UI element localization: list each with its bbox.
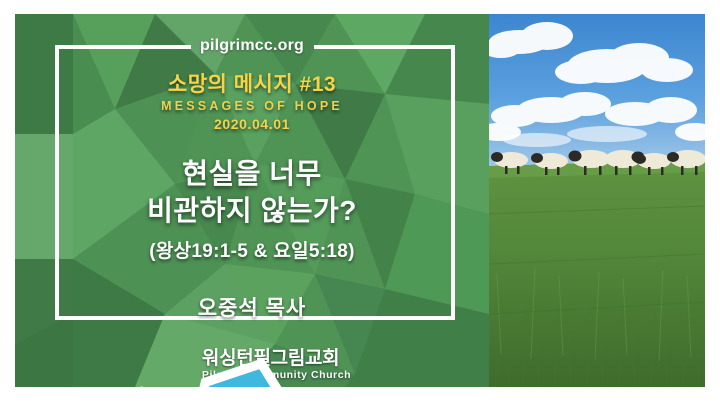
scripture-reference: (왕상19:1-5 & 요일5:18) [15, 236, 489, 263]
star-people-emblem-icon [153, 345, 195, 385]
sermon-title-block: 현실을 너무 비관하지 않는가? (왕상19:1-5 & 요일5:18) [15, 156, 489, 263]
green-lowpoly-panel: pilgrimcc.org 소망의 메시지 #13 MESSAGES OF HO… [15, 14, 489, 387]
frame-top-segment [314, 45, 455, 49]
frame-top-segment [55, 45, 191, 49]
speaker-name: 오중석 목사 [15, 292, 489, 322]
sermon-title-line-1: 현실을 너무 [15, 156, 489, 193]
church-logo: 워싱턴필그림교회 Pilgrim Community Church [15, 345, 489, 385]
logo-emblem-svg [15, 345, 489, 387]
pasture-illustration [489, 14, 705, 387]
series-block: 소망의 메시지 #13 MESSAGES OF HOPE 2020.04.01 [15, 72, 489, 132]
slide-content-area: pilgrimcc.org 소망의 메시지 #13 MESSAGES OF HO… [15, 14, 705, 387]
sermon-slide: pilgrimcc.org 소망의 메시지 #13 MESSAGES OF HO… [0, 0, 720, 405]
sheep-pasture-photo [489, 14, 705, 387]
series-title-english: MESSAGES OF HOPE [15, 99, 489, 113]
series-date: 2020.04.01 [15, 116, 489, 132]
series-title-korean: 소망의 메시지 #13 [15, 72, 489, 98]
sermon-title-line-2: 비관하지 않는가? [15, 193, 489, 230]
